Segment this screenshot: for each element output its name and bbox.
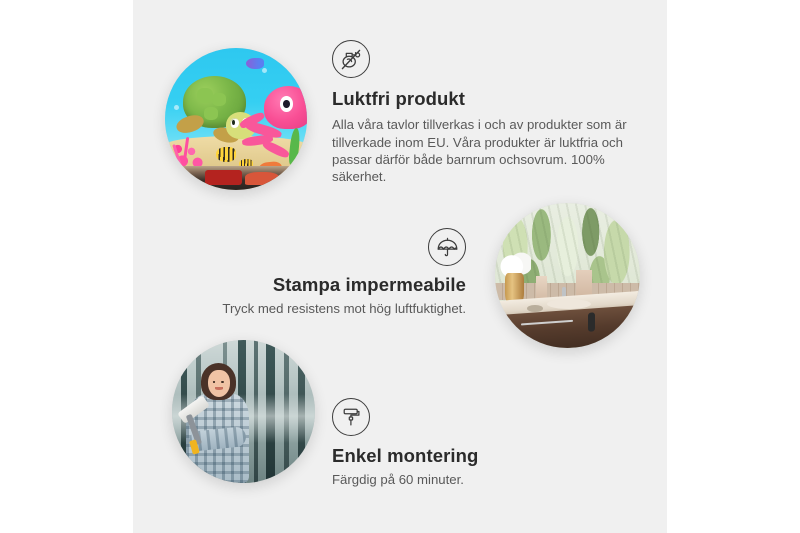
underwater-scene <box>165 48 307 190</box>
sink-basin <box>547 299 591 309</box>
feature-description: Alla våra tavlor tillverkas i och av pro… <box>332 116 628 186</box>
face <box>208 370 230 397</box>
product-image-underwater-cartoon <box>165 48 307 190</box>
product-image-bathroom-leaf-wallpaper <box>495 203 640 348</box>
feature-block-easy-install: Enkel montering Färgdig på 60 minuter. <box>332 398 592 489</box>
feature-description: Tryck med resistens mot hög luftfuktighe… <box>180 300 466 317</box>
promo-banner: Luktfri produkt Alla våra tavlor tillver… <box>0 0 800 533</box>
bathroom-scene <box>495 203 640 348</box>
room-photo-strip <box>165 166 307 190</box>
umbrella-icon <box>428 228 466 266</box>
soap-dish <box>527 305 543 312</box>
blue-fish-illustration <box>246 58 264 69</box>
no-odour-spray-bottle-icon <box>332 40 370 78</box>
paint-roller-icon <box>332 398 370 436</box>
feature-title: Stampa impermeabile <box>180 273 466 296</box>
product-image-woman-paint-roller <box>172 340 315 483</box>
yellow-striped-fish <box>216 147 236 161</box>
feature-description: Färgdig på 60 minuter. <box>332 471 592 488</box>
feature-title: Enkel montering <box>332 444 592 467</box>
feature-title: Luktfri produkt <box>332 87 628 110</box>
feature-block-waterproof: Stampa impermeabile Tryck med resistens … <box>180 228 466 318</box>
feature-block-odourless: Luktfri produkt Alla våra tavlor tillver… <box>332 40 628 186</box>
octopus-eye <box>280 96 293 112</box>
bubble-icon <box>262 68 267 73</box>
forest-scene <box>172 340 315 483</box>
